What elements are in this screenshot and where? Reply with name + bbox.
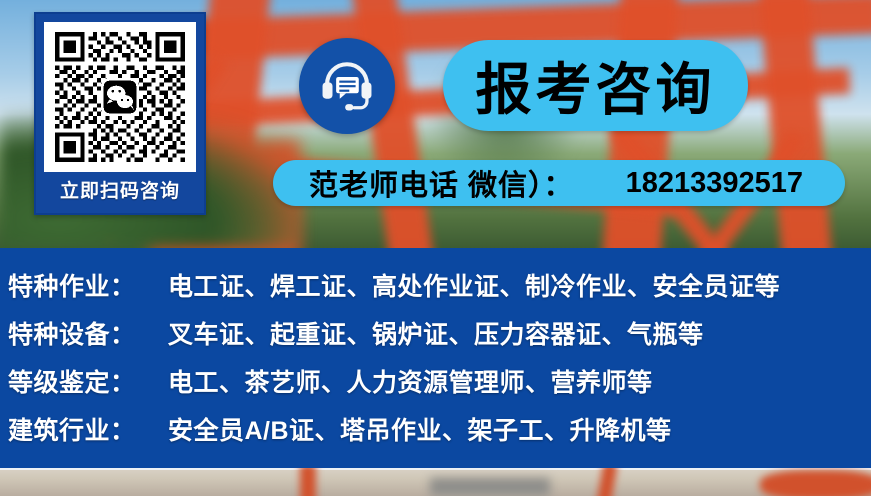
category-row-construction-industry: 建筑行业： 安全员A/B证、塔吊作业、架子工、升降机等 — [0, 407, 871, 455]
bottom-photo-element — [760, 470, 871, 496]
category-label: 建筑行业： — [8, 407, 158, 455]
qr-caption: 立即扫码咨询 — [44, 172, 196, 212]
contact-pill[interactable]: 范老师电话 微信）： 18213392517 — [273, 160, 845, 206]
title-pill: 报考咨询 — [443, 40, 748, 131]
page-title: 报考咨询 — [476, 45, 716, 126]
wechat-icon — [101, 78, 139, 116]
category-row-grade-certification: 等级鉴定： 电工、茶艺师、人力资源管理师、营养师等 — [0, 359, 871, 407]
categories-panel: 特种作业： 电工证、焊工证、高处作业证、制冷作业、安全员证等 特种设备： 叉车证… — [0, 248, 871, 468]
category-label: 特种作业： — [8, 263, 158, 311]
divider — [0, 468, 871, 470]
qr-code-matrix — [50, 28, 190, 166]
category-label: 等级鉴定： — [8, 359, 158, 407]
category-items: 叉车证、起重证、锅炉证、压力容器证、气瓶等 — [158, 311, 704, 359]
contact-phone-number[interactable]: 18213392517 — [574, 167, 803, 200]
headset-badge — [299, 38, 395, 134]
qr-card[interactable]: 立即扫码咨询 — [34, 12, 206, 215]
category-row-special-operations: 特种作业： 电工证、焊工证、高处作业证、制冷作业、安全员证等 — [0, 263, 871, 311]
promo-poster: 立即扫码咨询 报考咨询 范老师电话 微信）： 18213392517 特种作业：… — [0, 0, 871, 496]
category-label: 特种设备： — [8, 311, 158, 359]
category-row-special-equipment: 特种设备： 叉车证、起重证、锅炉证、压力容器证、气瓶等 — [0, 311, 871, 359]
bottom-photo-element — [596, 468, 617, 496]
category-items: 安全员A/B证、塔吊作业、架子工、升降机等 — [158, 407, 672, 455]
bottom-photo-element — [430, 478, 550, 496]
category-items: 电工、茶艺师、人力资源管理师、营养师等 — [158, 359, 653, 407]
headset-chat-icon — [318, 57, 376, 115]
bottom-photo-strip — [0, 468, 871, 496]
qr-code-icon[interactable] — [44, 22, 196, 172]
category-items: 电工证、焊工证、高处作业证、制冷作业、安全员证等 — [158, 263, 780, 311]
bottom-photo-element — [300, 468, 316, 496]
contact-label: 范老师电话 微信）： — [287, 162, 574, 204]
